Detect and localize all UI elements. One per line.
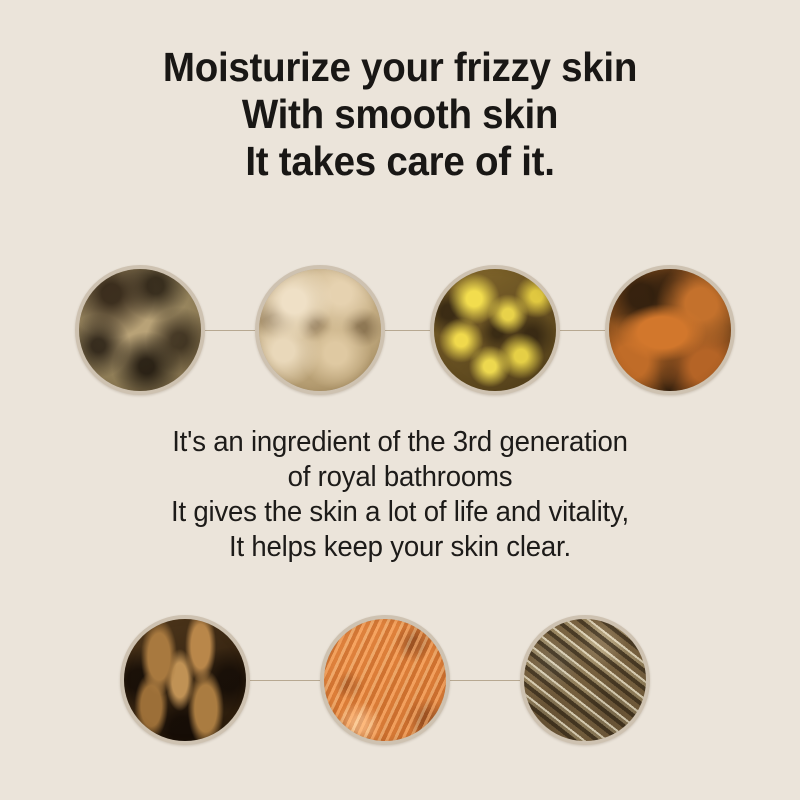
- connector-top-3-4: [560, 330, 605, 331]
- body-line-3: It gives the skin a lot of life and vita…: [20, 495, 780, 530]
- galangal-texture: [255, 265, 385, 395]
- body-line-2: of royal bathrooms: [20, 460, 780, 495]
- body-line-4: It helps keep your skin clear.: [20, 530, 780, 565]
- dried-roots-texture: [520, 615, 650, 745]
- ingredient-circle-cloves[interactable]: [120, 615, 250, 745]
- ingredient-poster: Moisturize your frizzy skin With smooth …: [0, 0, 800, 800]
- dried-ginger-texture: [75, 265, 205, 395]
- turmeric-texture: [320, 615, 450, 745]
- page-title: Moisturize your frizzy skin With smooth …: [24, 44, 776, 185]
- ingredient-circle-mushroom[interactable]: [605, 265, 735, 395]
- connector-top-1-2: [205, 330, 255, 331]
- ingredient-circle-dried-ginger[interactable]: [75, 265, 205, 395]
- ingredient-circle-turmeric[interactable]: [320, 615, 450, 745]
- ingredient-circle-dried-roots[interactable]: [520, 615, 650, 745]
- mushroom-texture: [605, 265, 735, 395]
- ingredient-circle-chrysanthemum[interactable]: [430, 265, 560, 395]
- connector-top-2-3: [385, 330, 430, 331]
- body-copy: It's an ingredient of the 3rd generation…: [20, 425, 780, 565]
- headline-line-3: It takes care of it.: [24, 138, 776, 185]
- connector-bottom-1-2: [250, 680, 320, 681]
- connector-bottom-2-3: [450, 680, 520, 681]
- headline-line-1: Moisturize your frizzy skin: [24, 44, 776, 91]
- cloves-texture: [120, 615, 250, 745]
- headline-line-2: With smooth skin: [24, 91, 776, 138]
- chrysanthemum-texture: [430, 265, 560, 395]
- body-line-1: It's an ingredient of the 3rd generation: [20, 425, 780, 460]
- ingredient-circle-galangal[interactable]: [255, 265, 385, 395]
